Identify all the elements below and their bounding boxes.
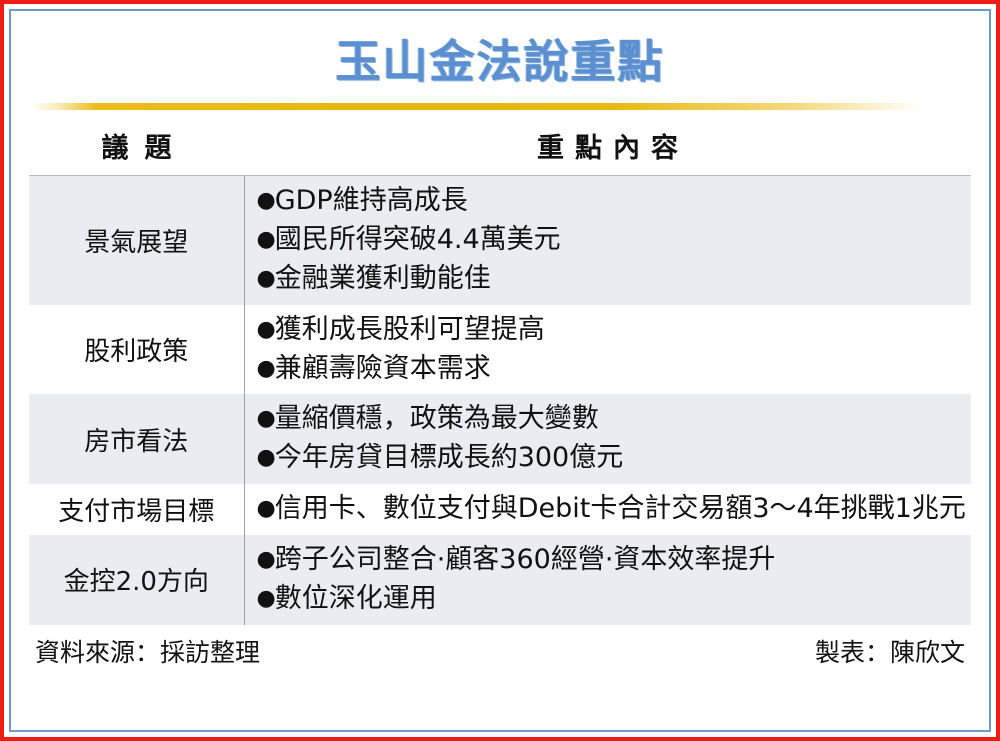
title-area: 玉山金法說重點	[29, 11, 971, 103]
bullet-item: ●今年房貸目標成長約300億元	[257, 439, 968, 478]
bullet-text: GDP維持高成長	[275, 185, 468, 216]
row-topic: 股利政策	[29, 305, 244, 395]
row-topic: 金控2.0方向	[29, 535, 244, 625]
bullet-text: 跨子公司整合·顧客360經營·資本效率提升	[275, 544, 776, 575]
gold-divider-bar	[31, 103, 969, 110]
bullet-item: ●金融業獲利動能佳	[257, 260, 968, 299]
row-detail: ●量縮價穩，政策為最大變數 ●今年房貸目標成長約300億元	[244, 394, 971, 484]
source-label: 資料來源：採訪整理	[35, 633, 260, 669]
footer: 資料來源：採訪整理 製表：陳欣文	[29, 625, 971, 677]
bullet-dot-icon: ●	[257, 266, 275, 291]
row-detail: ●跨子公司整合·顧客360經營·資本效率提升 ●數位深化運用	[244, 535, 971, 625]
bullet-text: 兼顧壽險資本需求	[275, 353, 491, 384]
bullet-text: 金融業獲利動能佳	[275, 263, 491, 294]
row-topic: 景氣展望	[29, 176, 244, 305]
bullet-item: ●國民所得突破4.4萬美元	[257, 221, 968, 260]
bullet-item: ●兼顧壽險資本需求	[257, 350, 968, 389]
row-detail: ●獲利成長股利可望提高 ●兼顧壽險資本需求	[244, 305, 971, 395]
row-detail: ●GDP維持高成長 ●國民所得突破4.4萬美元 ●金融業獲利動能佳	[244, 176, 971, 305]
content-area: 玉山金法說重點 議題 重點內容 景氣展望	[11, 11, 989, 730]
bullet-dot-icon: ●	[257, 356, 275, 381]
bullet-text: 量縮價穩，政策為最大變數	[275, 403, 599, 434]
row-topic: 支付市場目標	[29, 484, 244, 535]
bullet-text: 數位深化運用	[275, 583, 437, 614]
table-row: 股利政策 ●獲利成長股利可望提高 ●兼顧壽險資本需求	[29, 305, 971, 395]
bullet-dot-icon: ●	[257, 406, 275, 431]
bullet-item: ●跨子公司整合·顧客360經營·資本效率提升	[257, 541, 968, 580]
table-row: 房市看法 ●量縮價穩，政策為最大變數 ●今年房貸目標成長約300億元	[29, 394, 971, 484]
column-header-topic: 議題	[29, 115, 244, 176]
credit-label: 製表：陳欣文	[815, 633, 965, 669]
bullet-dot-icon: ●	[257, 188, 275, 213]
page-title: 玉山金法說重點	[335, 25, 664, 90]
bullet-item: ●量縮價穩，政策為最大變數	[257, 400, 968, 439]
row-detail: ●信用卡、數位支付與Debit卡合計交易額3～4年挑戰1兆元	[244, 484, 971, 535]
bullet-dot-icon: ●	[257, 317, 275, 342]
bullet-dot-icon: ●	[257, 496, 275, 521]
bullet-dot-icon: ●	[257, 227, 275, 252]
bullet-dot-icon: ●	[257, 445, 275, 470]
table-header: 議題 重點內容	[29, 115, 971, 176]
bullet-text: 國民所得突破4.4萬美元	[275, 224, 561, 255]
summary-table: 議題 重點內容 景氣展望 ●GDP維持高成長 ●國民所得突破4.4萬美元 ●金融…	[29, 115, 971, 625]
column-header-detail: 重點內容	[244, 115, 971, 176]
bullet-dot-icon: ●	[257, 547, 275, 572]
bullet-text: 今年房貸目標成長約300億元	[275, 442, 624, 473]
table-row: 金控2.0方向 ●跨子公司整合·顧客360經營·資本效率提升 ●數位深化運用	[29, 535, 971, 625]
bullet-item: ●GDP維持高成長	[257, 182, 968, 221]
infographic-page: 玉山金法說重點 議題 重點內容 景氣展望	[0, 0, 1000, 741]
bullet-item: ●信用卡、數位支付與Debit卡合計交易額3～4年挑戰1兆元	[257, 490, 968, 529]
bullet-dot-icon: ●	[257, 586, 275, 611]
table-row: 支付市場目標 ●信用卡、數位支付與Debit卡合計交易額3～4年挑戰1兆元	[29, 484, 971, 535]
bullet-item: ●數位深化運用	[257, 580, 968, 619]
bullet-text: 獲利成長股利可望提高	[275, 314, 545, 345]
bullet-item: ●獲利成長股利可望提高	[257, 311, 968, 350]
bullet-text: 信用卡、數位支付與Debit卡合計交易額3～4年挑戰1兆元	[275, 493, 966, 524]
table-row: 景氣展望 ●GDP維持高成長 ●國民所得突破4.4萬美元 ●金融業獲利動能佳	[29, 176, 971, 305]
inner-frame: 玉山金法說重點 議題 重點內容 景氣展望	[9, 9, 991, 732]
table-body: 景氣展望 ●GDP維持高成長 ●國民所得突破4.4萬美元 ●金融業獲利動能佳 股…	[29, 176, 971, 625]
table-header-row: 議題 重點內容	[29, 115, 971, 176]
row-topic: 房市看法	[29, 394, 244, 484]
